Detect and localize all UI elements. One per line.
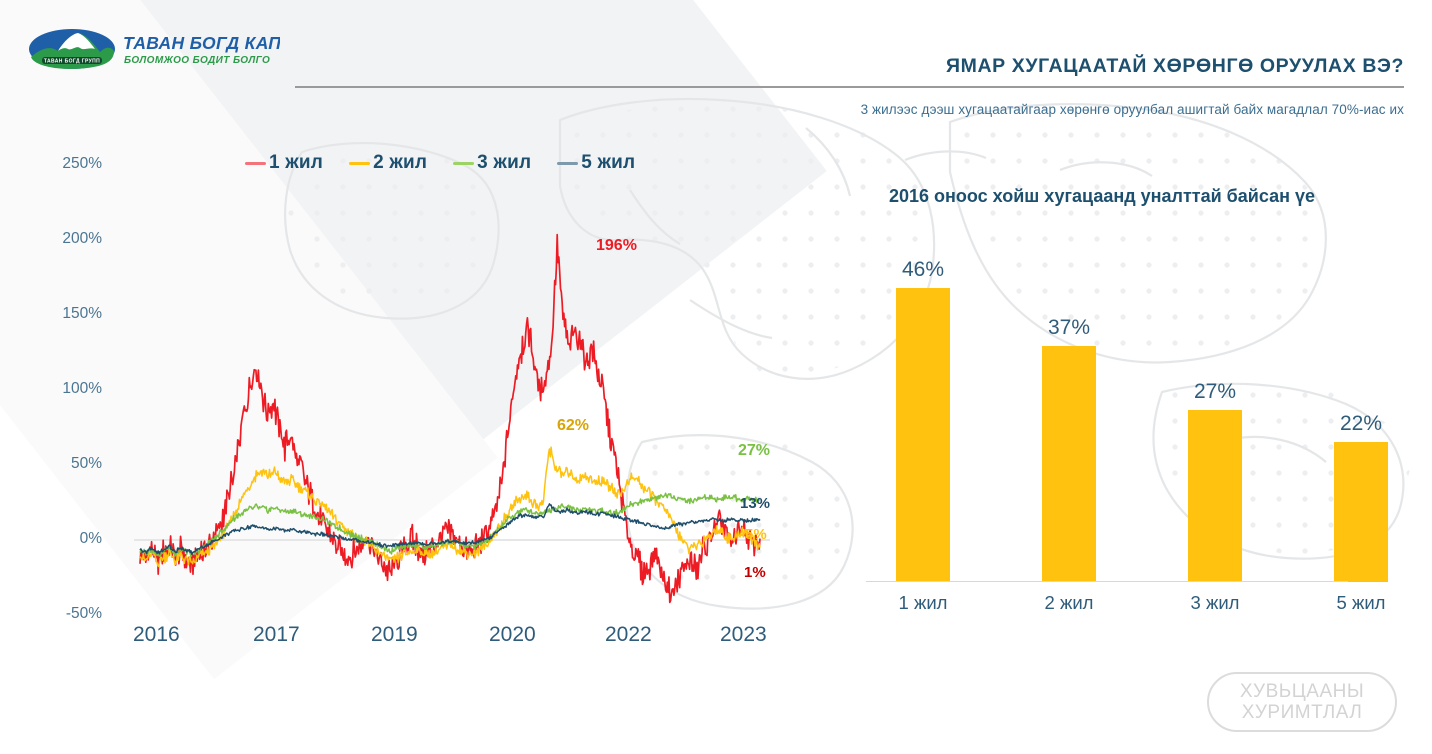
watermark-badge: ХУВЬЦААНЫ ХУРИМТЛАЛ <box>1207 672 1397 732</box>
bar-category-label: 2 жил <box>1014 592 1124 614</box>
svg-text:ТАВАН БОГД ГРУПП: ТАВАН БОГД ГРУПП <box>44 58 100 64</box>
page-title: ЯМАР ХУГАЦААТАЙ ХӨРӨНГӨ ОРУУЛАХ ВЭ? <box>946 55 1404 78</box>
line-chart: 250%200%150%100%50%0%-50% 20162017201920… <box>0 130 820 660</box>
bar-value-label: 22% <box>1312 412 1410 436</box>
bar-chart-baseline <box>866 581 1348 582</box>
logo-tagline: БОЛОМЖОО БОДИТ БОЛГО <box>124 55 270 66</box>
watermark-line-1: ХУВЬЦААНЫ <box>1240 681 1364 702</box>
annotation-end-5: -5% <box>740 526 767 543</box>
line-series-1 <box>140 235 760 603</box>
bar-category-label: 3 жил <box>1160 592 1270 614</box>
bar-chart-title: 2016 оноос хойш хугацаанд уналттай байса… <box>872 183 1332 209</box>
bar-category-label: 5 жил <box>1306 592 1416 614</box>
bar-category-label: 1 жил <box>868 592 978 614</box>
company-logo: ТАВАН БОГД ГРУПП ТАВАН БОГД КАПИТАЛ БОЛО… <box>28 27 280 72</box>
annotation-end-13: 13% <box>740 495 770 512</box>
bar-rect <box>1334 442 1388 582</box>
watermark-line-2: ХУРИМТЛАЛ <box>1242 702 1363 723</box>
bar-value-label: 27% <box>1166 380 1264 404</box>
bar-chart: 46%37%27%22% <box>872 250 1342 582</box>
annotation-end-1: 1% <box>744 564 766 581</box>
bar-value-label: 46% <box>874 258 972 282</box>
bar-value-label: 37% <box>1020 316 1118 340</box>
annotation-peak-196: 196% <box>596 237 637 255</box>
header-divider <box>295 86 1404 88</box>
bar-column: 46% <box>896 250 950 582</box>
bar-rect <box>1188 410 1242 582</box>
bar-column: 22% <box>1334 250 1388 582</box>
slide-root: ТАВАН БОГД ГРУПП ТАВАН БОГД КАПИТАЛ БОЛО… <box>0 0 1432 754</box>
bar-rect <box>1042 346 1096 582</box>
bar-column: 37% <box>1042 250 1096 582</box>
logo-title: ТАВАН БОГД КАПИТАЛ <box>123 33 280 53</box>
annotation-end-27: 27% <box>738 442 770 460</box>
line-series-plot <box>0 130 820 660</box>
bar-rect <box>896 288 950 582</box>
annotation-peak-62: 62% <box>557 417 589 435</box>
line-series-2 <box>140 447 760 566</box>
bar-column: 27% <box>1188 250 1242 582</box>
header-subtitle: 3 жилээс дээш хугацаатайгаар хөрөнгө ору… <box>861 102 1404 117</box>
